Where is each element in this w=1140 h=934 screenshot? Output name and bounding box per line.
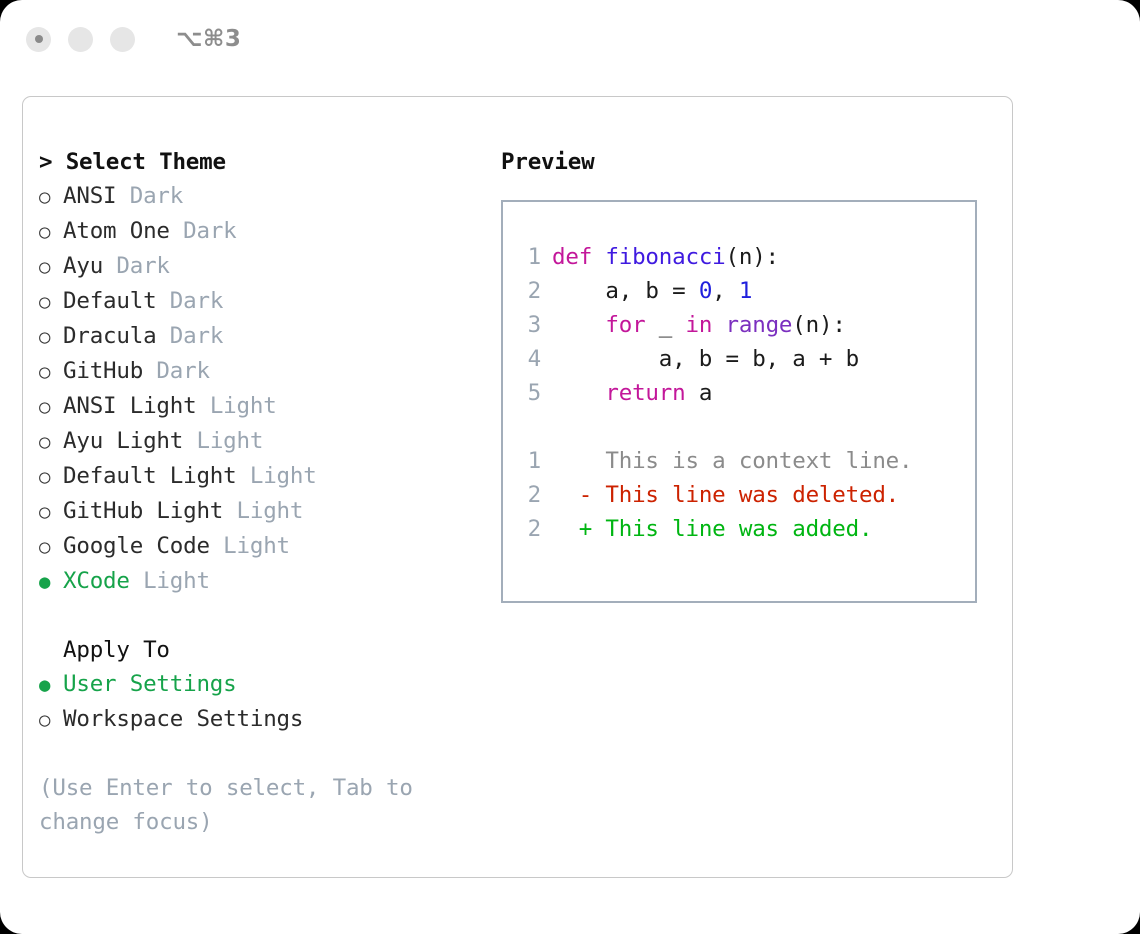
theme-option-row[interactable]: ○Google Code Light <box>39 529 489 564</box>
code-token: a, b = b, a + b <box>552 346 859 372</box>
code-token: def <box>552 244 605 270</box>
theme-option-row[interactable]: ○Default Dark <box>39 284 489 319</box>
radio-unselected-icon: ○ <box>39 460 63 494</box>
theme-name-label: ANSI <box>63 179 116 213</box>
theme-variant-tag: Light <box>210 529 290 563</box>
apply-to-option-row[interactable]: ○Workspace Settings <box>39 702 489 737</box>
line-number: 1 <box>513 444 541 478</box>
app-window: ⌥⌘3 > Select Theme ○ANSI Dark○Atom One D… <box>0 0 1140 934</box>
theme-name-label: Atom One <box>63 214 170 248</box>
diff-sign: + <box>552 512 605 546</box>
theme-name-label: Ayu <box>63 249 103 283</box>
radio-unselected-icon: ○ <box>39 425 63 459</box>
traffic-light-group <box>26 27 135 52</box>
theme-name-label: Default Light <box>63 459 237 493</box>
radio-unselected-icon: ○ <box>39 320 63 354</box>
code-token: 1 <box>739 278 752 304</box>
line-number: 3 <box>513 308 541 342</box>
line-number: 2 <box>513 478 541 512</box>
apply-to-option-row[interactable]: ●User Settings <box>39 667 489 702</box>
theme-option-row[interactable]: ●XCode Light <box>39 564 489 599</box>
code-token: return <box>605 380 685 406</box>
theme-option-row[interactable]: ○GitHub Dark <box>39 354 489 389</box>
code-line: 1def fibonacci(n): <box>513 240 975 274</box>
diff-spacer <box>513 410 975 444</box>
section-spacer <box>39 599 489 633</box>
line-number: 2 <box>513 274 541 308</box>
diff-text: This line was deleted. <box>605 478 899 512</box>
code-line: 3 for _ in range(n): <box>513 308 975 342</box>
radio-selected-icon: ● <box>39 668 63 702</box>
code-token: in <box>685 312 712 338</box>
code-line: 5 return a <box>513 376 975 410</box>
code-token: range <box>726 312 793 338</box>
diff-text: This line was added. <box>605 512 872 546</box>
line-number: 4 <box>513 342 541 376</box>
diff-sign <box>552 444 605 478</box>
theme-option-row[interactable]: ○Atom One Dark <box>39 214 489 249</box>
theme-option-row[interactable]: ○ANSI Light Light <box>39 389 489 424</box>
code-text: a, b = b, a + b <box>552 342 859 376</box>
apply-to-label: Workspace Settings <box>63 702 303 736</box>
code-token: fibonacci <box>605 244 725 270</box>
theme-name-label: Default <box>63 284 156 318</box>
theme-option-row[interactable]: ○Ayu Dark <box>39 249 489 284</box>
code-text: def fibonacci(n): <box>552 240 779 274</box>
diff-line: 1 This is a context line. <box>513 444 975 478</box>
theme-variant-tag: Dark <box>143 354 210 388</box>
theme-variant-tag: Dark <box>156 319 223 353</box>
theme-option-row[interactable]: ○Default Light Light <box>39 459 489 494</box>
radio-selected-icon: ● <box>39 565 63 599</box>
code-token: (n): <box>792 312 845 338</box>
line-number: 2 <box>513 512 541 546</box>
preview-title: Preview <box>501 145 991 179</box>
theme-name-label: GitHub <box>63 354 143 388</box>
code-token <box>712 312 725 338</box>
radio-unselected-icon: ○ <box>39 250 63 284</box>
apply-to-list: ●User Settings○Workspace Settings <box>39 667 489 737</box>
select-theme-header: > Select Theme <box>39 145 489 179</box>
theme-option-row[interactable]: ○Dracula Dark <box>39 319 489 354</box>
apply-to-label: User Settings <box>63 667 237 701</box>
theme-name-label: Ayu Light <box>63 424 183 458</box>
code-token: (n): <box>726 244 779 270</box>
code-token <box>552 312 605 338</box>
theme-variant-tag: Light <box>183 424 263 458</box>
theme-variant-tag: Dark <box>156 284 223 318</box>
code-sample: 1def fibonacci(n):2 a, b = 0, 13 for _ i… <box>513 240 975 410</box>
diff-text: This is a context line. <box>605 444 912 478</box>
theme-variant-tag: Dark <box>116 179 183 213</box>
theme-variant-tag: Light <box>130 564 210 598</box>
code-token: , <box>712 278 739 304</box>
theme-variant-tag: Light <box>196 389 276 423</box>
diff-line: 2 + This line was added. <box>513 512 975 546</box>
theme-variant-tag: Dark <box>170 214 237 248</box>
code-token <box>552 380 605 406</box>
theme-name-label: Google Code <box>63 529 210 563</box>
theme-option-row[interactable]: ○Ayu Light Light <box>39 424 489 459</box>
code-token: 0 <box>699 278 712 304</box>
theme-variant-tag: Light <box>237 459 317 493</box>
radio-unselected-icon: ○ <box>39 355 63 389</box>
radio-unselected-icon: ○ <box>39 703 63 737</box>
preview-column: Preview 1def fibonacci(n):2 a, b = 0, 13… <box>501 145 991 603</box>
traffic-light-dot-icon <box>35 35 43 43</box>
panel-columns: > Select Theme ○ANSI Dark○Atom One Dark○… <box>23 97 1012 877</box>
code-text: a, b = 0, 1 <box>552 274 752 308</box>
code-line: 4 a, b = b, a + b <box>513 342 975 376</box>
title-bar: ⌥⌘3 <box>0 0 1140 78</box>
preview-box: 1def fibonacci(n):2 a, b = 0, 13 for _ i… <box>501 200 977 603</box>
code-token: a, b = <box>552 278 699 304</box>
theme-selector-column: > Select Theme ○ANSI Dark○Atom One Dark○… <box>39 145 489 839</box>
apply-to-header: Apply To <box>39 633 489 667</box>
traffic-light-third-icon[interactable] <box>110 27 135 52</box>
main-panel: > Select Theme ○ANSI Dark○Atom One Dark○… <box>22 96 1013 878</box>
traffic-light-active-icon[interactable] <box>26 27 51 52</box>
code-token: for <box>605 312 645 338</box>
theme-option-row[interactable]: ○GitHub Light Light <box>39 494 489 529</box>
traffic-light-second-icon[interactable] <box>68 27 93 52</box>
code-text: return a <box>552 376 712 410</box>
radio-unselected-icon: ○ <box>39 285 63 319</box>
radio-unselected-icon: ○ <box>39 495 63 529</box>
diff-sign: - <box>552 478 605 512</box>
line-number: 5 <box>513 376 541 410</box>
radio-unselected-icon: ○ <box>39 390 63 424</box>
code-text: for _ in range(n): <box>552 308 846 342</box>
theme-list: ○ANSI Dark○Atom One Dark○Ayu Dark○Defaul… <box>39 179 489 599</box>
code-line: 2 a, b = 0, 1 <box>513 274 975 308</box>
theme-variant-tag: Light <box>223 494 303 528</box>
theme-name-label: ANSI Light <box>63 389 196 423</box>
radio-unselected-icon: ○ <box>39 530 63 564</box>
theme-name-label: XCode <box>63 564 130 598</box>
radio-unselected-icon: ○ <box>39 215 63 249</box>
line-number: 1 <box>513 240 541 274</box>
radio-unselected-icon: ○ <box>39 180 63 214</box>
theme-name-label: Dracula <box>63 319 156 353</box>
code-token: a <box>685 380 712 406</box>
code-token: _ <box>645 312 685 338</box>
diff-line: 2 - This line was deleted. <box>513 478 975 512</box>
theme-name-label: GitHub Light <box>63 494 223 528</box>
theme-variant-tag: Dark <box>103 249 170 283</box>
theme-option-row[interactable]: ○ANSI Dark <box>39 179 489 214</box>
keyboard-hint: (Use Enter to select, Tab to change focu… <box>39 771 439 839</box>
keyboard-shortcut-label: ⌥⌘3 <box>176 26 241 52</box>
diff-sample: 1 This is a context line.2 - This line w… <box>513 444 975 546</box>
